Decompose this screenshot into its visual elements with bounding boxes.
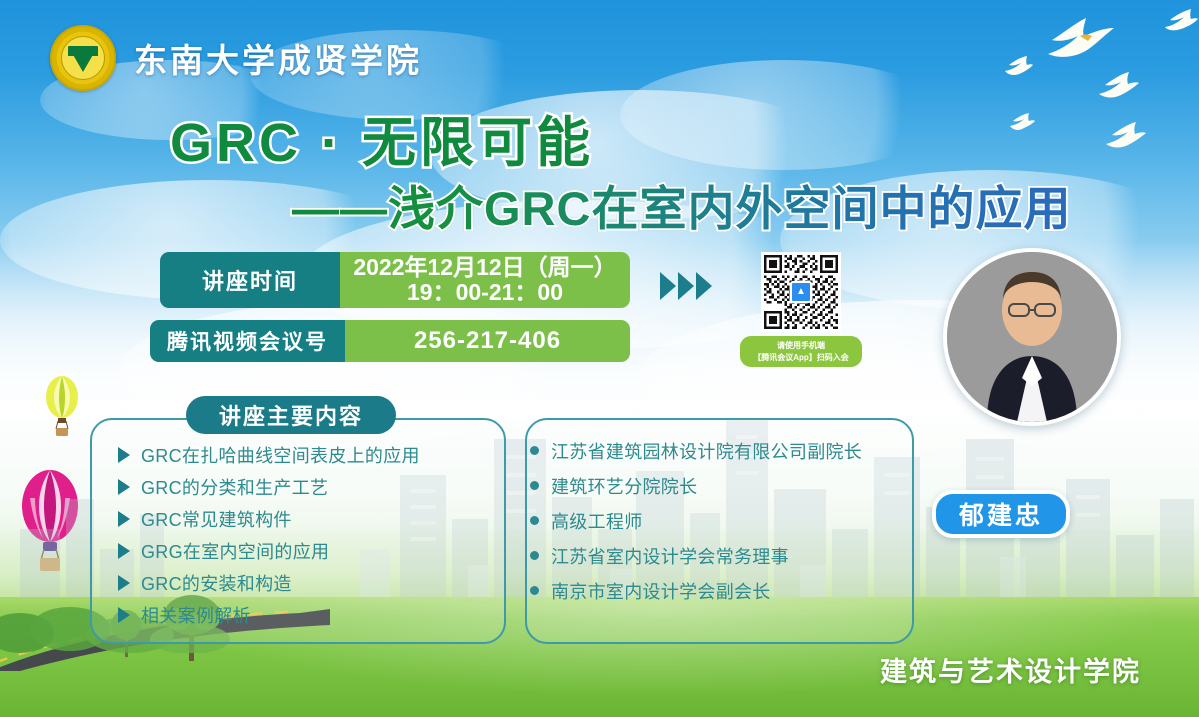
- lecture-time-value: 2022年12月12日（周一） 19：00-21：00: [340, 252, 630, 308]
- triangle-bullet-icon: [118, 543, 130, 559]
- list-item: GRC的安装和构造: [118, 568, 498, 597]
- dove-icon: [1102, 120, 1148, 152]
- credential-label: 江苏省建筑园林设计院有限公司副院长: [551, 438, 862, 464]
- topic-label: GRC在扎哈曲线空间表皮上的应用: [141, 442, 420, 468]
- list-item: GRC在扎哈曲线空间表皮上的应用: [118, 440, 498, 469]
- meeting-number-label: 腾讯视频会议号: [150, 320, 345, 362]
- topic-label: GRC的分类和生产工艺: [141, 474, 328, 500]
- triangle-bullet-icon: [118, 447, 130, 463]
- organizer-name: 建筑与艺术设计学院: [880, 650, 1141, 689]
- lecture-hours: 19：00-21：00: [407, 280, 563, 305]
- list-item: GRC的分类和生产工艺: [118, 472, 498, 501]
- credential-label: 江苏省室内设计学会常务理事: [551, 543, 789, 569]
- lecture-time-label: 讲座时间: [160, 252, 340, 308]
- list-item: 江苏省建筑园林设计院有限公司副院长: [530, 436, 905, 465]
- topics-badge: 讲座主要内容: [186, 396, 396, 434]
- qr-caption-line1: 请使用手机端: [742, 340, 860, 352]
- list-item: 江苏省室内设计学会常务理事: [530, 541, 905, 570]
- speaker-portrait-icon: [943, 248, 1121, 426]
- credential-label: 南京市室内设计学会副会长: [551, 578, 771, 604]
- meeting-number-value: 256-217-406: [345, 320, 630, 362]
- seminar-poster: 东南大学成贤学院 GRC · 无限可能 ——浅介GRC在室内外空间中的应用 ——…: [0, 0, 1199, 717]
- topic-label: GRG在室内空间的应用: [141, 538, 329, 564]
- topic-label: 相关案例解析: [141, 602, 251, 628]
- triangle-bullet-icon: [118, 607, 130, 623]
- dot-bullet-icon: [530, 481, 539, 490]
- meeting-number-bar: 腾讯视频会议号 256-217-406: [150, 320, 630, 362]
- list-item: GRG在室内空间的应用: [118, 536, 498, 565]
- lecture-time-bar: 讲座时间 2022年12月12日（周一） 19：00-21：00: [160, 252, 630, 308]
- topic-label: GRC的安装和构造: [141, 570, 292, 596]
- triangle-bullet-icon: [118, 575, 130, 591]
- topics-list: GRC在扎哈曲线空间表皮上的应用 GRC的分类和生产工艺 GRC常见建筑构件 G…: [118, 440, 498, 632]
- speaker-name-badge: 郁建忠: [932, 490, 1070, 538]
- topic-label: GRC常见建筑构件: [141, 506, 292, 532]
- dove-icon: [1095, 70, 1141, 102]
- university-logo: 东南大学成贤学院: [50, 25, 422, 91]
- dot-bullet-icon: [530, 586, 539, 595]
- university-seal-icon: [50, 25, 116, 91]
- list-item: 南京市室内设计学会副会长: [530, 576, 905, 605]
- page-title: GRC · 无限可能: [170, 98, 594, 177]
- page-subtitle: ——浅介GRC在室内外空间中的应用: [292, 170, 1071, 239]
- lecture-date: 2022年12月12日（周一）: [353, 255, 616, 280]
- dove-icon: [1163, 8, 1199, 34]
- chevron-group: [660, 272, 712, 300]
- triangle-bullet-icon: [118, 511, 130, 527]
- credential-label: 建筑环艺分院院长: [551, 473, 697, 499]
- list-item: GRC常见建筑构件: [118, 504, 498, 533]
- list-item: 相关案例解析: [118, 600, 498, 629]
- dove-icon: [1003, 55, 1033, 77]
- dot-bullet-icon: [530, 551, 539, 560]
- credentials-list: 江苏省建筑园林设计院有限公司副院长 建筑环艺分院院长 高级工程师 江苏省室内设计…: [530, 436, 905, 611]
- qr-caption-line2: 【腾讯会议App】扫码入会: [742, 352, 860, 364]
- dove-icon: [1040, 14, 1118, 66]
- chevron-right-icon: [696, 272, 712, 300]
- qr-caption: 请使用手机端 【腾讯会议App】扫码入会: [740, 336, 862, 367]
- list-item: 建筑环艺分院院长: [530, 471, 905, 500]
- university-name: 东南大学成贤学院: [134, 34, 422, 82]
- chevron-right-icon: [660, 272, 676, 300]
- tencent-meeting-logo-icon: ▲: [790, 281, 812, 303]
- triangle-bullet-icon: [118, 479, 130, 495]
- chevron-right-icon: [678, 272, 694, 300]
- dove-icon: [1008, 112, 1036, 132]
- hot-air-balloon-icon: [43, 375, 81, 437]
- dot-bullet-icon: [530, 516, 539, 525]
- qr-code-icon[interactable]: ▲: [761, 252, 841, 332]
- list-item: 高级工程师: [530, 506, 905, 535]
- dot-bullet-icon: [530, 446, 539, 455]
- credential-label: 高级工程师: [551, 508, 643, 534]
